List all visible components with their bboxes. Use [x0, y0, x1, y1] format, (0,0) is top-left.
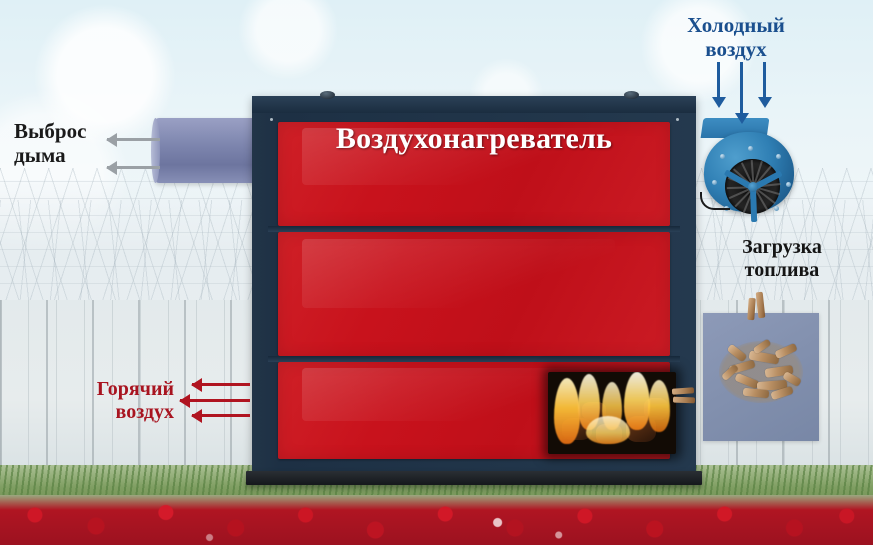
hot-air-arrow-2: [180, 399, 250, 402]
fuel-label-line1: Загрузка: [722, 236, 842, 259]
panel-seam-lower: [268, 356, 680, 362]
wood-pellet-pile: [719, 341, 803, 403]
frame-rivet: [270, 118, 273, 121]
smoke-outlet-label: Выброс дыма: [14, 120, 86, 168]
cold-air-arrow-1: [717, 62, 720, 98]
heater-title: Воздухонагреватель: [252, 122, 696, 156]
blower-fan-unit[interactable]: [698, 118, 794, 212]
fuel-label-line2: топлива: [722, 259, 842, 282]
heater-panel-middle[interactable]: [278, 232, 670, 356]
blower-cable: [700, 192, 730, 210]
top-bolt-right: [624, 91, 639, 99]
smoke-exhaust-pipe: [155, 118, 260, 183]
air-heater-unit[interactable]: Воздухонагреватель: [252, 96, 696, 472]
tulip-flower-bed: [0, 495, 873, 545]
frame-rivet: [676, 118, 679, 121]
fire-window: [548, 372, 676, 454]
heater-base: [246, 471, 702, 485]
cold-air-label-line1: Холодный: [676, 14, 796, 38]
pellet-fuel-panel: [703, 313, 819, 441]
smoke-arrow-2: [107, 166, 160, 169]
smoke-arrow-1: [107, 138, 160, 141]
diagram-canvas: Воздухонагреватель: [0, 0, 873, 545]
hot-air-label-line2: воздух: [90, 401, 174, 424]
hot-air-arrow-3: [192, 414, 250, 417]
fan-hub: [748, 182, 758, 192]
hot-air-label-line1: Горячий: [90, 378, 174, 401]
cold-air-label: Холодный воздух: [676, 14, 796, 62]
cold-air-arrow-2: [740, 62, 743, 114]
top-bolt-left: [320, 91, 335, 99]
hot-air-arrow-1: [192, 383, 250, 386]
blower-housing: [704, 132, 794, 212]
fuel-loading-label: Загрузка топлива: [722, 236, 842, 282]
hot-air-label: Горячий воздух: [90, 378, 174, 424]
cold-air-label-line2: воздух: [676, 38, 796, 62]
panel-seam-upper: [268, 226, 680, 232]
smoke-label-line1: Выброс: [14, 120, 86, 144]
feed-pellet: [673, 397, 695, 404]
cold-air-arrow-3: [763, 62, 766, 98]
smoke-label-line2: дыма: [14, 144, 86, 168]
